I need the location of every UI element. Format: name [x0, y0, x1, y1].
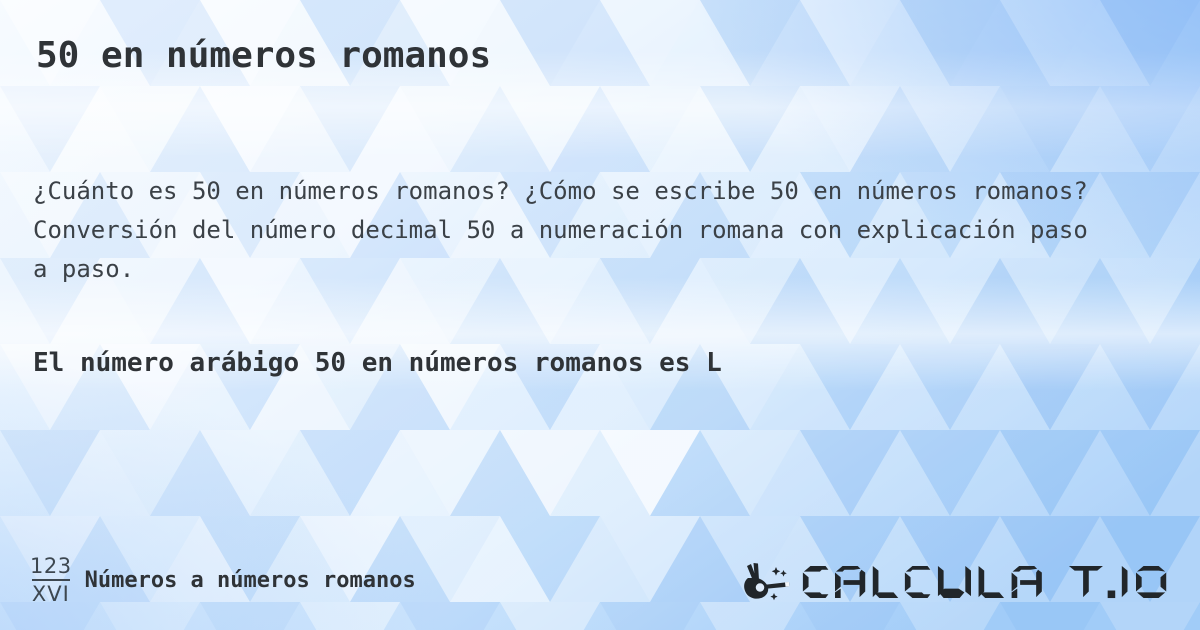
open-graph-card: 50 en números romanos ¿Cuánto es 50 en n… [0, 0, 1200, 630]
site-name-label: Números a números romanos [85, 568, 416, 593]
calculatio-wordmark-suffix [1068, 565, 1167, 599]
site-brand[interactable]: 123 XVI Números a números romanos [30, 552, 416, 608]
card-content: 50 en números romanos ¿Cuánto es 50 en n… [0, 0, 1200, 630]
magic-wand-hand-icon [737, 560, 795, 604]
calculatio-wordmark: CALCULAT.IO [801, 565, 1064, 599]
mark-divider-line [32, 579, 70, 581]
mark-denominator: XVI [32, 583, 70, 605]
mark-numerator: 123 [30, 556, 72, 579]
answer-statement: El número arábigo 50 en números romanos … [33, 345, 1153, 381]
page-title: 50 en números romanos [36, 33, 491, 79]
intro-paragraph: ¿Cuánto es 50 en números romanos? ¿Cómo … [33, 172, 1111, 289]
calculatio-brand[interactable]: CALCULAT.IO [737, 558, 1167, 606]
fraction-123-over-xvi-icon: 123 XVI [30, 556, 72, 605]
card-footer: 123 XVI Números a números romanos [0, 548, 1200, 608]
